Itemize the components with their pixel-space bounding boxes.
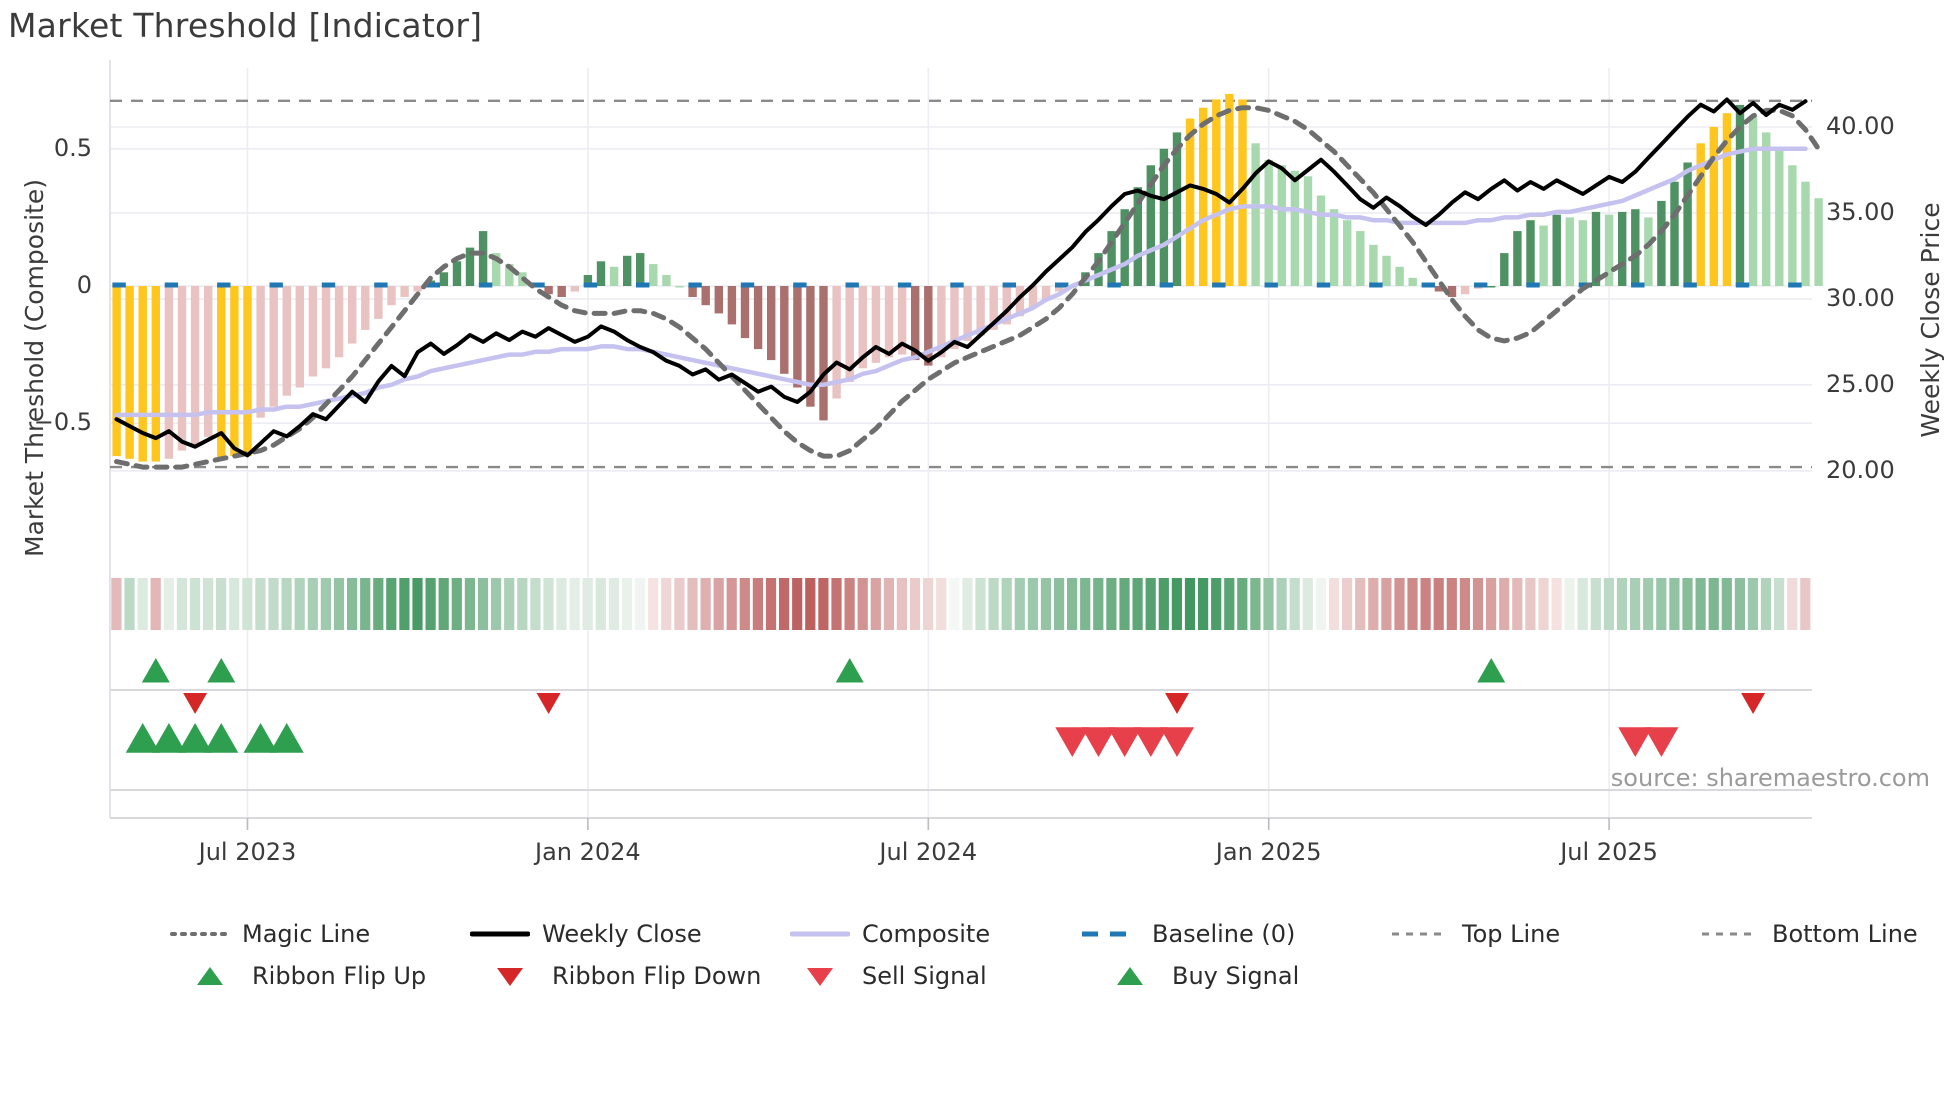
ribbon-cell (1146, 578, 1156, 630)
histogram-bar (1762, 132, 1770, 286)
legend-item-label: Buy Signal (1172, 962, 1299, 990)
ribbon-cell (1774, 578, 1784, 630)
ribbon-cell (1067, 578, 1077, 630)
histogram-bar (1500, 253, 1508, 286)
triangle-up-icon (1100, 965, 1160, 987)
histogram-bar (1788, 165, 1796, 286)
histogram-bar (270, 286, 278, 407)
histogram-bar (1487, 286, 1495, 288)
ribbon-flip-up-marker (207, 658, 235, 683)
baseline-segment (1526, 283, 1539, 288)
histogram-bar (623, 256, 631, 286)
y-axis-right-tick: 40.00 (1826, 112, 1946, 140)
histogram-bar (636, 253, 644, 286)
baseline-segment (636, 283, 649, 288)
baseline-segment (165, 283, 178, 288)
legend-item-label: Sell Signal (862, 962, 987, 990)
ribbon-cell (1407, 578, 1417, 630)
ribbon-cell (779, 578, 789, 630)
histogram-bar (1199, 108, 1207, 286)
ribbon-cell (923, 578, 933, 630)
histogram-bar (1107, 231, 1115, 286)
ribbon-cell (845, 578, 855, 630)
legend-item[interactable]: Baseline (0) (1080, 920, 1295, 948)
histogram-bar (1513, 231, 1521, 286)
baseline-segment (898, 283, 911, 288)
ribbon-cell (989, 578, 999, 630)
ribbon-flip-down-marker (1165, 693, 1189, 714)
baseline-segment (270, 283, 283, 288)
histogram-bar (780, 286, 788, 374)
legend-item-label: Top Line (1462, 920, 1560, 948)
ribbon-cell (1748, 578, 1758, 630)
ribbon-cell (897, 578, 907, 630)
ribbon-cell (1342, 578, 1352, 630)
ribbon-cell (1329, 578, 1339, 630)
histogram-bar (309, 286, 317, 377)
ribbon-cell (609, 578, 619, 630)
baseline-segment (950, 283, 963, 288)
ribbon-flip-down-marker (1741, 693, 1765, 714)
ribbon-cell (1368, 578, 1378, 630)
histogram-bar (1579, 220, 1587, 286)
histogram-bar (1225, 94, 1233, 286)
ribbon-cell (190, 578, 200, 630)
histogram-bar (662, 275, 670, 286)
ribbon-cell (714, 578, 724, 630)
baseline-segment (217, 283, 230, 288)
histogram-bar (256, 286, 264, 418)
ribbon-cell (1696, 578, 1706, 630)
sell-signal-marker (1160, 727, 1194, 757)
histogram-bar (1644, 217, 1652, 286)
ribbon-cell (1421, 578, 1431, 630)
ribbon-cell (1735, 578, 1745, 630)
ribbon-cell (321, 578, 331, 630)
histogram-bar (479, 231, 487, 286)
histogram-bar (1657, 201, 1665, 286)
ribbon-cell (426, 578, 436, 630)
ribbon-cell (753, 578, 763, 630)
histogram-bar (400, 286, 408, 297)
baseline-segment (1683, 283, 1696, 288)
histogram-bar (191, 286, 199, 445)
ribbon-cell (386, 578, 396, 630)
ribbon-cell (334, 578, 344, 630)
y-axis-left-tick: 0 (22, 271, 92, 299)
ribbon-cell (661, 578, 671, 630)
histogram-bar (1814, 198, 1822, 286)
histogram-bar (440, 272, 448, 286)
histogram-bar (1801, 182, 1809, 286)
dashed-line-swatch (1390, 923, 1450, 945)
ribbon-cell (962, 578, 972, 630)
ribbon-cell (648, 578, 658, 630)
histogram-bar (230, 286, 238, 456)
ribbon-cell (151, 578, 161, 630)
baseline-segment (1788, 283, 1801, 288)
ribbon-cell (596, 578, 606, 630)
ribbon-cell (1486, 578, 1496, 630)
ribbon-cell (1787, 578, 1797, 630)
chart-legend: Magic LineWeekly CloseCompositeBaseline … (0, 920, 1960, 1004)
baseline-segment (322, 283, 335, 288)
ribbon-cell (884, 578, 894, 630)
chart-root: Market Threshold [Indicator] Market Thre… (0, 0, 1960, 1102)
ribbon-cell (255, 578, 265, 630)
y-axis-right-tick: 25.00 (1826, 370, 1946, 398)
baseline-segment (112, 283, 125, 288)
histogram-bar (1343, 220, 1351, 286)
y-axis-right-tick: 30.00 (1826, 284, 1946, 312)
histogram-bar (702, 286, 710, 305)
histogram-bar (819, 286, 827, 420)
histogram-bar (178, 286, 186, 451)
ribbon-cell (373, 578, 383, 630)
legend-item[interactable]: Sell Signal (790, 962, 987, 990)
baseline-segment (1212, 283, 1225, 288)
ribbon-cell (701, 578, 711, 630)
ribbon-cell (229, 578, 239, 630)
dashed-line-swatch (1700, 923, 1760, 945)
histogram-bar (741, 286, 749, 338)
baseline-segment (1003, 283, 1016, 288)
ribbon-cell (1133, 578, 1143, 630)
ribbon-cell (1290, 578, 1300, 630)
histogram-bar (597, 261, 605, 286)
x-axis-tick: Jul 2025 (1509, 838, 1709, 866)
ribbon-cell (831, 578, 841, 630)
histogram-bar (885, 286, 893, 357)
histogram-bar (1251, 143, 1259, 286)
ribbon-cell (517, 578, 527, 630)
ribbon-cell (399, 578, 409, 630)
baseline-segment (793, 283, 806, 288)
histogram-bar (1592, 212, 1600, 286)
ribbon-cell (1080, 578, 1090, 630)
legend-item-label: Composite (862, 920, 990, 948)
ribbon-cell (1434, 578, 1444, 630)
histogram-bar (374, 286, 382, 319)
ribbon-cell (1552, 578, 1562, 630)
composite-line (117, 149, 1806, 415)
ribbon-cell (465, 578, 475, 630)
legend-item-label: Weekly Close (542, 920, 702, 948)
y-axis-left-tick: 0.5 (22, 134, 92, 162)
solid-line-swatch (790, 923, 850, 945)
histogram-bar (348, 286, 356, 344)
baseline-segment (1631, 283, 1644, 288)
ribbon-cell (818, 578, 828, 630)
ribbon-cell (504, 578, 514, 630)
ribbon-cell (1525, 578, 1535, 630)
ribbon-cell (687, 578, 697, 630)
ribbon-cell (478, 578, 488, 630)
ribbon-cell (858, 578, 868, 630)
dotted-line-swatch (170, 923, 230, 945)
ribbon-cell (452, 578, 462, 630)
x-axis-tick: Jan 2025 (1169, 838, 1369, 866)
ribbon-strip (111, 578, 1810, 630)
histogram-bar (453, 261, 461, 286)
legend-item[interactable]: Ribbon Flip Down (480, 962, 761, 990)
histogram-bar (1395, 267, 1403, 286)
ribbon-cell (766, 578, 776, 630)
baseline-segment (1107, 283, 1120, 288)
ribbon-cell (622, 578, 632, 630)
histogram-bar (125, 286, 133, 459)
x-axis-tick: Jul 2023 (147, 838, 347, 866)
source-attribution: source: sharemaestro.com (1611, 764, 1930, 792)
histogram-bar (1304, 176, 1312, 286)
histogram-bar (322, 286, 330, 368)
ribbon-cell (530, 578, 540, 630)
baseline-segment (1265, 283, 1278, 288)
baseline-segment (479, 283, 492, 288)
histogram-bar (1723, 113, 1731, 286)
baseline-segment (741, 283, 754, 288)
histogram-bar (1526, 220, 1534, 286)
ribbon-cell (1211, 578, 1221, 630)
baseline-segment (1369, 283, 1382, 288)
ribbon-cell (1460, 578, 1470, 630)
histogram-bar (1356, 231, 1364, 286)
triangle-down-icon (790, 965, 850, 987)
histogram-bar (1409, 278, 1417, 286)
ribbon-cell (1185, 578, 1195, 630)
ribbon-flip-up-marker (836, 658, 864, 683)
ribbon-cell (1224, 578, 1234, 630)
triangle-down-icon (480, 965, 540, 987)
ribbon-cell (216, 578, 226, 630)
ribbon-cell (635, 578, 645, 630)
ribbon-cell (570, 578, 580, 630)
baseline-segment (846, 283, 859, 288)
dashed-line-swatch (1080, 923, 1140, 945)
ribbon-cell (727, 578, 737, 630)
ribbon-cell (1172, 578, 1182, 630)
ribbon-cell (1093, 578, 1103, 630)
ribbon-cell (1381, 578, 1391, 630)
ribbon-cell (308, 578, 318, 630)
histogram-bar (610, 267, 618, 286)
legend-item[interactable]: Weekly Close (470, 920, 702, 948)
ribbon-cell (910, 578, 920, 630)
ribbon-cell (556, 578, 566, 630)
ribbon-cell (740, 578, 750, 630)
ribbon-cell (1722, 578, 1732, 630)
histogram-bar (243, 286, 251, 456)
ribbon-cell (1028, 578, 1038, 630)
ribbon-cell (1237, 578, 1247, 630)
histogram-bar (793, 286, 801, 388)
histogram-bar (414, 286, 422, 292)
histogram-bar (715, 286, 723, 313)
legend-item-label: Ribbon Flip Up (252, 962, 426, 990)
ribbon-cell (1015, 578, 1025, 630)
baseline-segment (1474, 283, 1487, 288)
ribbon-cell (1565, 578, 1575, 630)
legend-item[interactable]: Buy Signal (1100, 962, 1299, 990)
ribbon-cell (360, 578, 370, 630)
legend-item-label: Ribbon Flip Down (552, 962, 761, 990)
ribbon-cell (543, 578, 553, 630)
ribbon-cell (124, 578, 134, 630)
ribbon-cell (1578, 578, 1588, 630)
histogram-bar (1670, 182, 1678, 286)
x-axis-tick: Jan 2024 (488, 838, 688, 866)
histogram-bar (387, 286, 395, 305)
ribbon-cell (936, 578, 946, 630)
ribbon-cell (177, 578, 187, 630)
histogram-bar (1291, 171, 1299, 286)
histogram-bar (1749, 116, 1757, 286)
ribbon-cell (583, 578, 593, 630)
histogram-bar (754, 286, 762, 349)
legend-item[interactable]: Magic Line (170, 920, 370, 948)
ribbon-cell (347, 578, 357, 630)
histogram-bar (1566, 217, 1574, 286)
ribbon-cell (1316, 578, 1326, 630)
ribbon-cell (1512, 578, 1522, 630)
ribbon-flip-up-marker (142, 658, 170, 683)
ribbon-cell (268, 578, 278, 630)
solid-line-swatch (470, 923, 530, 945)
ribbon-cell (1604, 578, 1614, 630)
ribbon-cell (1198, 578, 1208, 630)
ribbon-cell (203, 578, 213, 630)
ribbon-cell (1591, 578, 1601, 630)
ribbon-cell (1499, 578, 1509, 630)
ribbon-cell (1643, 578, 1653, 630)
histogram-bar (1265, 160, 1273, 286)
sell-signal-marker (1644, 727, 1678, 757)
ribbon-cell (1002, 578, 1012, 630)
histogram-bar (1553, 215, 1561, 286)
ribbon-cell (1263, 578, 1273, 630)
legend-item[interactable]: Bottom Line (1700, 920, 1918, 948)
ribbon-cell (1761, 578, 1771, 630)
legend-row-signals: Ribbon Flip UpRibbon Flip DownSell Signa… (0, 962, 1960, 1004)
ribbon-cell (1630, 578, 1640, 630)
ribbon-cell (1303, 578, 1313, 630)
histogram-bar (1369, 245, 1377, 286)
baseline-segment (688, 283, 701, 288)
ribbon-cell (412, 578, 422, 630)
histogram-bar (335, 286, 343, 357)
ribbon-cell (1054, 578, 1064, 630)
ribbon-cell (164, 578, 174, 630)
histogram-bar (361, 286, 369, 330)
ribbon-cell (1800, 578, 1810, 630)
ribbon-cell (1394, 578, 1404, 630)
baseline-segment (1160, 283, 1173, 288)
legend-item[interactable]: Composite (790, 920, 990, 948)
y-axis-right-tick: 20.00 (1826, 456, 1946, 484)
histogram-bar (1382, 256, 1390, 286)
ribbon-cell (805, 578, 815, 630)
histogram-bar (283, 286, 291, 396)
legend-item[interactable]: Top Line (1390, 920, 1560, 948)
histogram-bar (1461, 286, 1469, 294)
y-axis-right-tick: 35.00 (1826, 198, 1946, 226)
ribbon-cell (282, 578, 292, 630)
histogram-bar (1683, 163, 1691, 287)
histogram-bar (675, 286, 683, 288)
histogram-bar (112, 286, 120, 456)
ribbon-cell (1669, 578, 1679, 630)
ribbon-cell (111, 578, 121, 630)
histogram-bar (558, 286, 566, 297)
histogram-bar (1330, 209, 1338, 286)
ribbon-cell (1473, 578, 1483, 630)
ribbon-cell (1106, 578, 1116, 630)
ribbon-cell (1250, 578, 1260, 630)
ribbon-cell (295, 578, 305, 630)
ribbon-cell (1119, 578, 1129, 630)
histogram-bar (1186, 119, 1194, 286)
baseline-segment (1317, 283, 1330, 288)
legend-item-label: Bottom Line (1772, 920, 1918, 948)
ribbon-cell (1617, 578, 1627, 630)
baseline-segment (1055, 283, 1068, 288)
buy-signal-marker (270, 723, 304, 753)
histogram-bar (1618, 212, 1626, 286)
ribbon-cell (491, 578, 501, 630)
ribbon-cell (1682, 578, 1692, 630)
ribbon-cell (1538, 578, 1548, 630)
histogram-bar (1278, 165, 1286, 286)
histogram-bar (1631, 209, 1639, 286)
weekly-close-line (117, 100, 1806, 456)
histogram-bar (571, 286, 579, 292)
baseline-segment (1422, 283, 1435, 288)
x-axis-tick: Jul 2024 (828, 838, 1028, 866)
ribbon-cell (1277, 578, 1287, 630)
ribbon-cell (949, 578, 959, 630)
histogram-bar (1317, 196, 1325, 287)
histogram-bar (767, 286, 775, 360)
ribbon-flip-up-marker (1477, 658, 1505, 683)
ribbon-cell (1656, 578, 1666, 630)
ribbon-flip-down-marker (183, 693, 207, 714)
histogram-bar (728, 286, 736, 324)
ribbon-cell (1355, 578, 1365, 630)
baseline-segment (584, 283, 597, 288)
ribbon-cell (792, 578, 802, 630)
histogram-bar (649, 264, 657, 286)
baseline-segment (374, 283, 387, 288)
histogram-bar (1775, 149, 1783, 286)
buy-signal-marker (204, 723, 238, 753)
legend-item-label: Baseline (0) (1152, 920, 1295, 948)
histogram-bar (1539, 226, 1547, 286)
legend-item-label: Magic Line (242, 920, 370, 948)
baseline-segment (1736, 283, 1749, 288)
histogram-bar (688, 286, 696, 297)
triangle-up-icon (180, 965, 240, 987)
legend-item[interactable]: Ribbon Flip Up (180, 962, 426, 990)
ribbon-cell (1447, 578, 1457, 630)
ribbon-cell (975, 578, 985, 630)
ribbon-cell (1041, 578, 1051, 630)
ribbon-cell (138, 578, 148, 630)
ribbon-cell (242, 578, 252, 630)
legend-row-primary: Magic LineWeekly CloseCompositeBaseline … (0, 920, 1960, 962)
ribbon-cell (1709, 578, 1719, 630)
histogram-bar (296, 286, 304, 388)
ribbon-cell (871, 578, 881, 630)
